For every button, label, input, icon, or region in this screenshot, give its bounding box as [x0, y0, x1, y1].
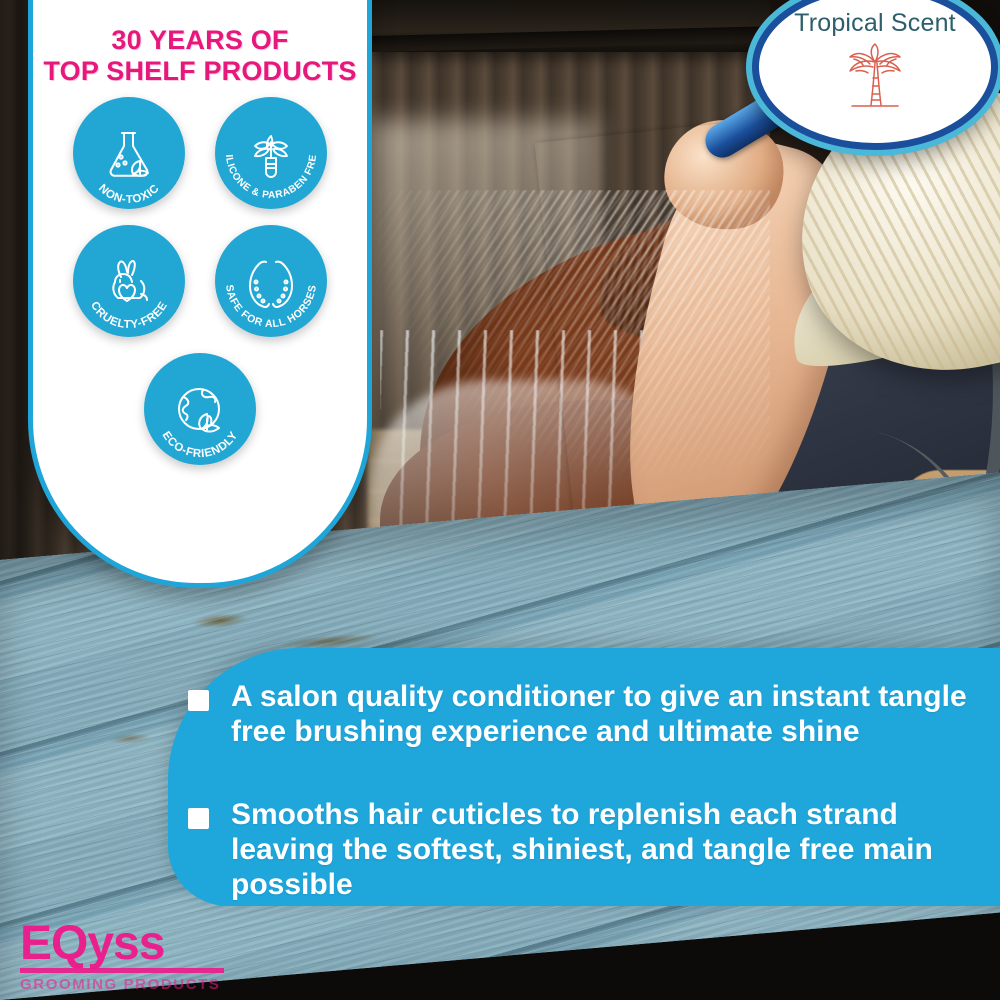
flask-leaf-icon	[102, 130, 156, 180]
leaf-test-tube-icon	[244, 130, 298, 182]
feature-bullet: A salon quality conditioner to give an i…	[188, 680, 998, 750]
badge-non-toxic: NON-TOXIC	[73, 97, 185, 209]
globe-leaf-icon	[173, 386, 227, 438]
palm-tree-icon	[834, 40, 916, 123]
badge-safe-for-all-horses: SAFE FOR ALL HORSES	[215, 225, 327, 337]
logo-brand-name: EQyss	[20, 922, 250, 966]
brand-logo: EQyss GROOMING PRODUCTS	[20, 922, 250, 993]
headline-line-2: TOP SHELF PRODUCTS	[33, 56, 367, 87]
bullet-square-icon	[188, 690, 209, 711]
logo-tagline: GROOMING PRODUCTS	[20, 976, 250, 993]
features-panel: A salon quality conditioner to give an i…	[168, 648, 1000, 906]
badge-row-1: NON-TOXIC	[33, 97, 367, 209]
logo-divider	[20, 968, 224, 973]
headline-line-1: 30 YEARS OF	[33, 25, 367, 56]
badge-row-2: CRUELTY-FREE	[33, 225, 367, 337]
scent-badge-label: Tropical Scent	[794, 9, 956, 38]
claims-panel: 30 YEARS OF TOP SHELF PRODUCTS	[28, 0, 372, 588]
horseshoe-icon	[244, 258, 298, 312]
badge-cruelty-free: CRUELTY-FREE	[73, 225, 185, 337]
feature-text-2: Smooths hair cuticles to replenish each …	[231, 798, 1000, 902]
rabbit-heart-icon	[101, 258, 157, 308]
badge-silicone-paraben-free: SILICONE & PARABEN FREE	[215, 97, 327, 209]
page-title: 30 YEARS OF TOP SHELF PRODUCTS	[33, 25, 367, 86]
feature-text-1: A salon quality conditioner to give an i…	[231, 680, 998, 750]
bullet-square-icon	[188, 808, 209, 829]
badge-eco-friendly: ECO-FRIENDLY	[144, 353, 256, 465]
product-infographic: 30 YEARS OF TOP SHELF PRODUCTS	[0, 0, 1000, 1000]
badge-grid: NON-TOXIC	[33, 97, 367, 481]
badge-label-non-toxic: NON-TOXIC	[96, 182, 162, 206]
feature-bullet: Smooths hair cuticles to replenish each …	[188, 798, 1000, 902]
svg-text:NON-TOXIC: NON-TOXIC	[96, 182, 162, 206]
badge-row-3: ECO-FRIENDLY	[33, 353, 367, 465]
